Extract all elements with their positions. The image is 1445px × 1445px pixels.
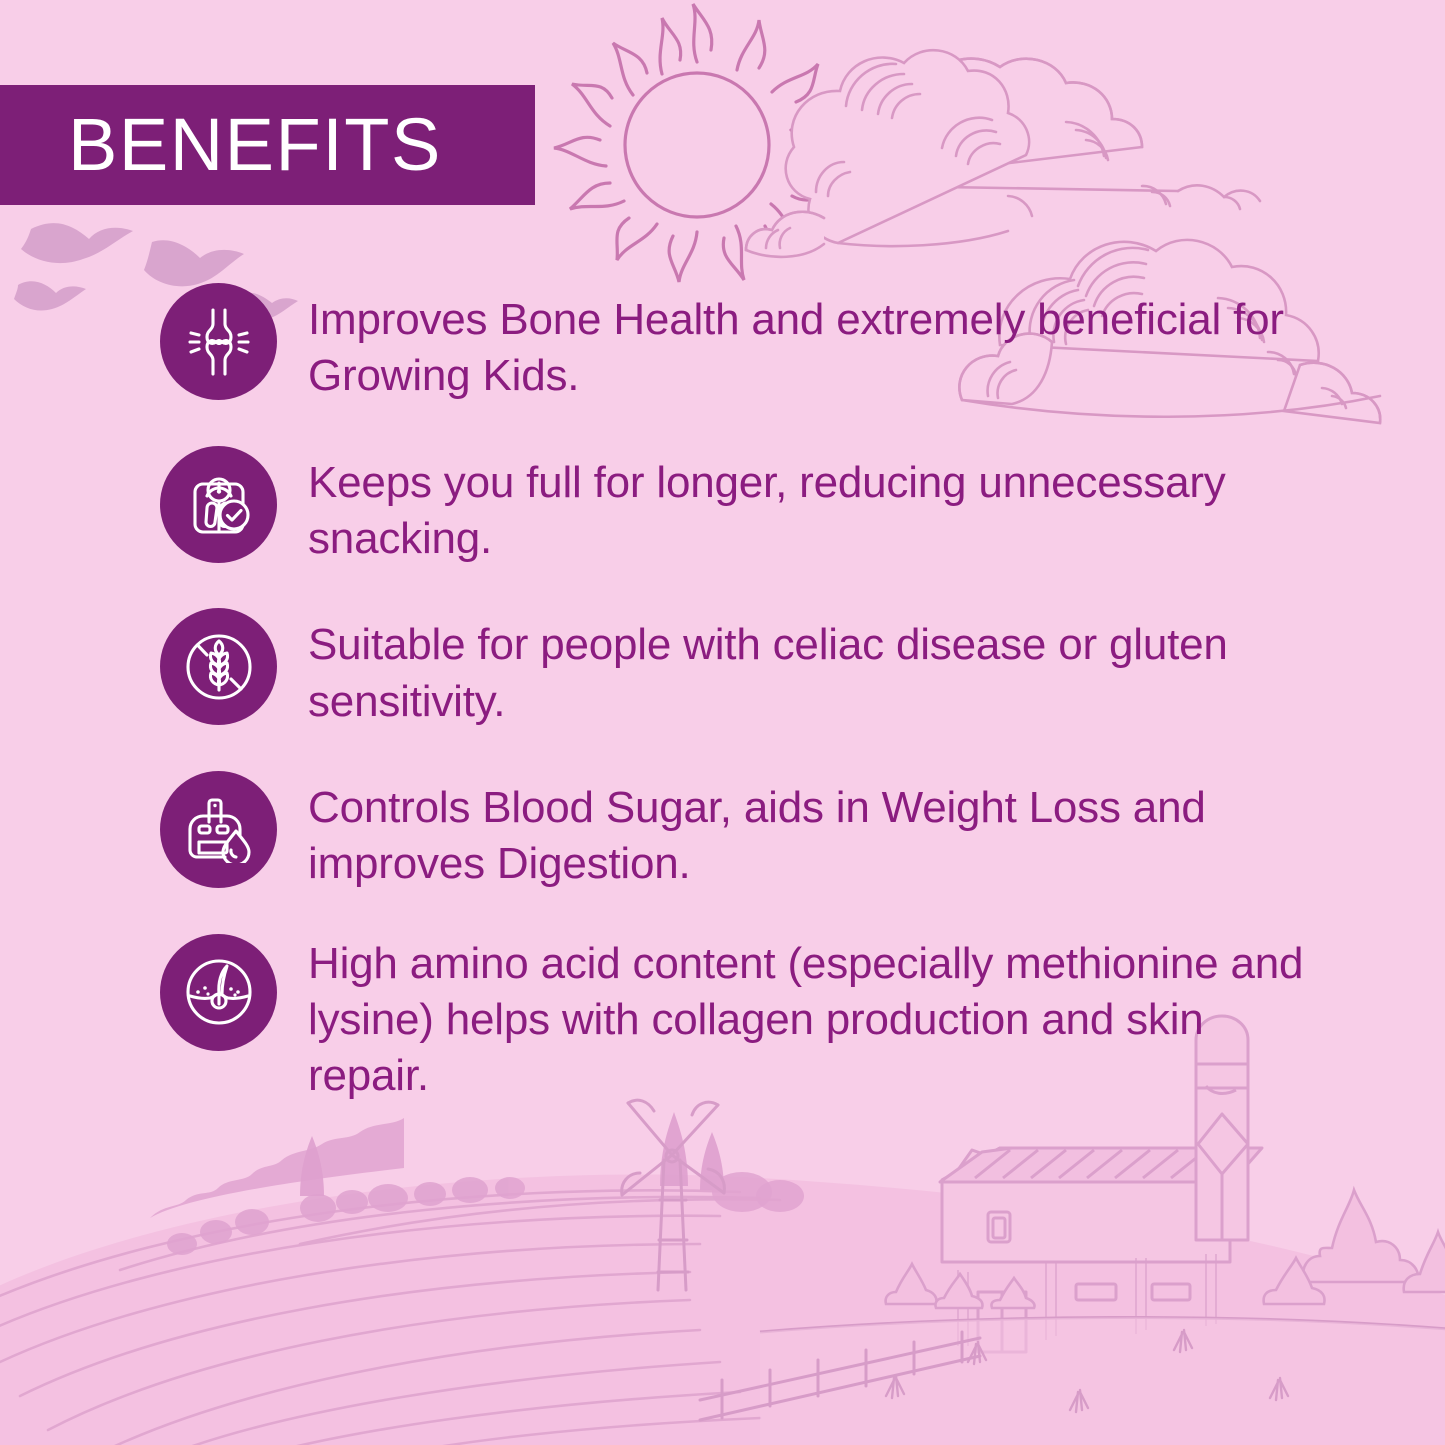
benefit-text: Suitable for people with celiac disease … — [308, 608, 1445, 730]
benefit-item-amino-acids: High amino acid content (especially meth… — [0, 934, 1445, 1105]
bone-joint-icon-badge — [160, 283, 277, 400]
benefits-header-banner: BENEFITS — [0, 85, 535, 205]
benefit-item-satiety: Keeps you full for longer, reducing unne… — [0, 446, 1445, 568]
hair-follicle-skin-icon — [183, 956, 255, 1028]
bushes-decoration — [886, 1190, 1445, 1308]
benefit-text: High amino acid content (especially meth… — [308, 934, 1445, 1105]
benefit-item-gluten-free: Suitable for people with celiac disease … — [0, 608, 1445, 730]
benefit-item-bone-health: Improves Bone Health and extremely benef… — [0, 283, 1445, 405]
benefits-poster: BENEFITS Improves Bone Health and extrem… — [0, 0, 1445, 1445]
benefit-text: Keeps you full for longer, reducing unne… — [308, 446, 1445, 568]
hair-follicle-skin-icon-badge — [160, 934, 277, 1051]
gluten-free-icon-badge — [160, 608, 277, 725]
sun-icon — [554, 4, 845, 282]
glucose-meter-drop-icon — [185, 795, 253, 863]
glucose-meter-drop-icon-badge — [160, 771, 277, 888]
weight-scale-check-icon-badge — [160, 446, 277, 563]
fence-decoration — [700, 1332, 980, 1420]
benefits-list: Improves Bone Health and extremely benef… — [0, 283, 1445, 1145]
grass-tufts — [886, 1330, 1288, 1412]
page-title: BENEFITS — [0, 108, 442, 182]
bone-joint-icon — [185, 308, 253, 376]
benefit-text: Improves Bone Health and extremely benef… — [308, 283, 1445, 405]
benefit-item-blood-sugar: Controls Blood Sugar, aids in Weight Los… — [0, 771, 1445, 893]
benefit-text: Controls Blood Sugar, aids in Weight Los… — [308, 771, 1445, 893]
gluten-free-icon — [183, 631, 255, 703]
weight-scale-check-icon — [185, 470, 253, 538]
